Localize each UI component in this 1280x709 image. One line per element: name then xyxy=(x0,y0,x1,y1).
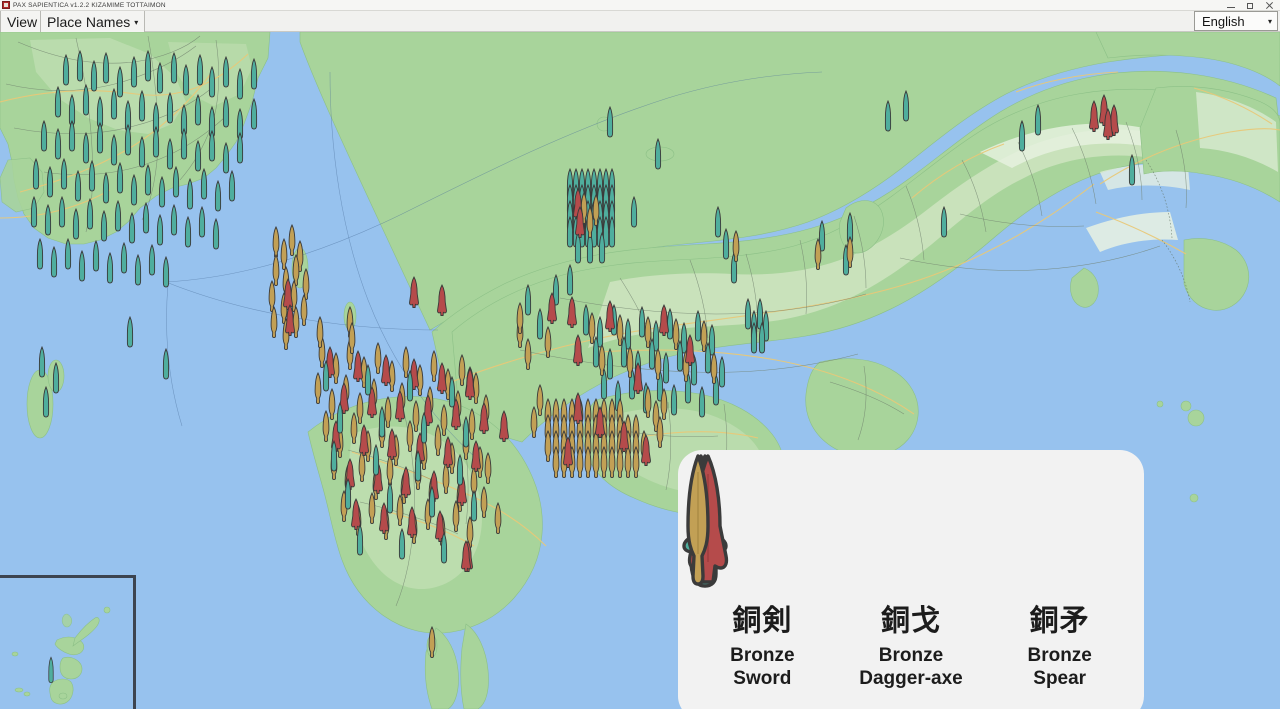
chevron-down-icon: ▾ xyxy=(134,19,138,27)
legend-label-en-line1: Bronze xyxy=(1027,645,1091,666)
chevron-down-icon: ▾ xyxy=(1268,18,1272,26)
window-controls xyxy=(1226,0,1278,11)
legend-label-en-line2: Sword xyxy=(733,668,791,689)
legend-label-en: Bronze Spear xyxy=(1027,644,1091,690)
menu-bar: View ▾ Place Names ▾ xyxy=(0,11,1280,32)
legend-label-jp: 銅矛 xyxy=(1030,606,1090,635)
legend-item-bronze-spear[interactable]: 銅矛 Bronze Spear xyxy=(985,464,1134,690)
map-canvas[interactable]: 銅剣 Bronze Sword 銅戈 Bronze Dagger-axe xyxy=(0,32,1280,709)
app-icon xyxy=(2,1,10,9)
legend-label-jp: 銅戈 xyxy=(881,606,941,635)
inset-graphics xyxy=(0,578,136,709)
legend-label-en-line2: Dagger-axe xyxy=(859,668,963,689)
legend-item-bronze-dagger-axe[interactable]: 銅戈 Bronze Dagger-axe xyxy=(837,464,986,690)
legend-label-en-line2: Spear xyxy=(1033,668,1086,689)
inset-map-ryukyu[interactable] xyxy=(0,575,136,709)
menu-view-label: View xyxy=(7,14,37,30)
legend-label-en-line1: Bronze xyxy=(730,645,794,666)
minimize-icon[interactable] xyxy=(1226,1,1236,11)
legend-label-en: Bronze Sword xyxy=(730,644,794,690)
maximize-icon[interactable] xyxy=(1245,1,1255,11)
legend-label-en-line1: Bronze xyxy=(879,645,943,666)
legend-label-en: Bronze Dagger-axe xyxy=(859,644,963,690)
window-title: PAX SAPIENTICA v1.2.2 KIZAMIME TOTTAIMON xyxy=(13,2,166,9)
close-icon[interactable] xyxy=(1264,1,1274,11)
title-bar: PAX SAPIENTICA v1.2.2 KIZAMIME TOTTAIMON xyxy=(0,0,1280,11)
language-select-value: English xyxy=(1202,14,1245,29)
legend-label-jp: 銅剣 xyxy=(732,606,792,635)
weapon-legend-panel: 銅剣 Bronze Sword 銅戈 Bronze Dagger-axe xyxy=(678,450,1144,709)
menu-place-names-label: Place Names xyxy=(47,14,130,30)
language-select[interactable]: English ▾ xyxy=(1194,11,1278,31)
menu-place-names-button[interactable]: Place Names ▾ xyxy=(40,11,145,32)
application-window: PAX SAPIENTICA v1.2.2 KIZAMIME TOTTAIMON… xyxy=(0,0,1280,709)
